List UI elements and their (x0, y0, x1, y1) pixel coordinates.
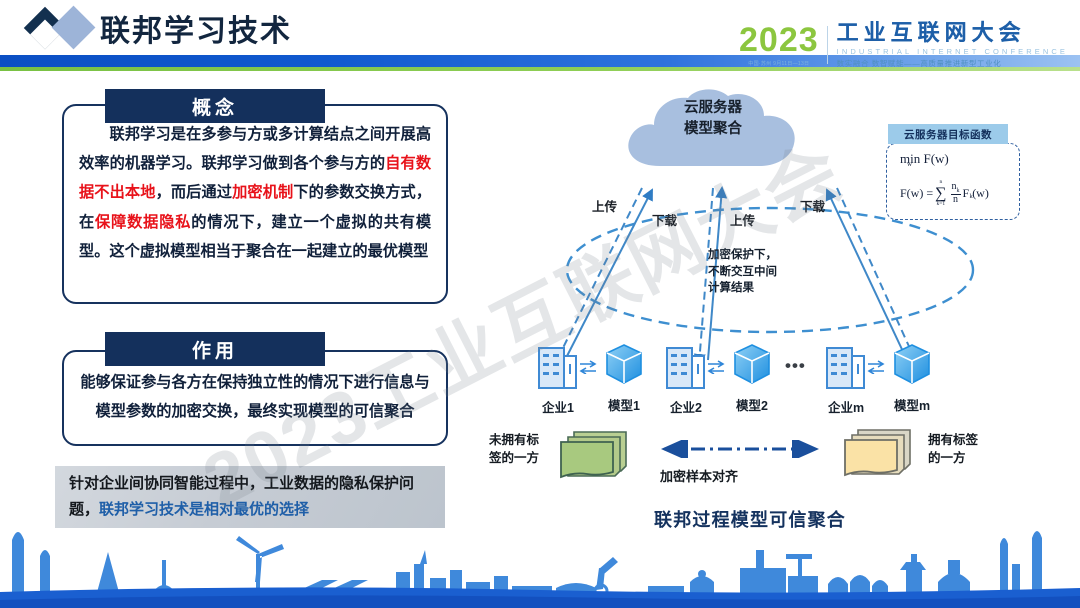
node-model-m: 模型m (886, 342, 938, 414)
summary-callout-text: 针对企业间协同智能过程中，工业数据的隐私保护问题，联邦学习技术是相对最优的选择 (55, 471, 445, 523)
slide-root: 联邦学习技术 2023 中国·苏州 9月11日—13日 工业互联网大会 INDU… (0, 0, 1080, 608)
node-enterprise-2: 企业2 (660, 340, 712, 416)
cloud-label: 云服务器 模型聚合 (618, 98, 808, 140)
formula-line1-sub: w (907, 160, 912, 168)
node-enterprise-1: 企业1 (532, 340, 584, 416)
conference-name-en: INDUSTRIAL INTERNET CONFERENCE (837, 47, 1068, 56)
exchange-arrows-icon-3 (866, 360, 886, 374)
upload-label-left: 上传 (592, 196, 617, 215)
concept-highlight: 保障数据隐私 (95, 214, 191, 231)
alignment-arrow-icon (650, 440, 830, 458)
formula-line2-lhs: F(w) = (900, 186, 933, 201)
cloud-label-line2: 模型聚合 (618, 119, 808, 140)
conference-logo: 2023 中国·苏州 9月11日—13日 工业互联网大会 INDUSTRIAL … (739, 22, 1068, 68)
conference-year: 2023 (739, 23, 819, 57)
building-icon (537, 340, 579, 390)
formula-tail-sub: k (970, 193, 973, 200)
node-model-1: 模型1 (598, 342, 650, 414)
node-label: 模型2 (726, 395, 778, 414)
concept-body: 联邦学习是在多参与方或多计算结点之间开展高效率的机器学习。联邦学习做到各个参与方… (64, 106, 446, 276)
unlabeled-party-label: 未拥有标 签的一方 (489, 432, 539, 467)
node-label: 企业2 (660, 397, 712, 416)
cube-icon (603, 342, 645, 388)
formula-box-title: 云服务器目标函数 (888, 124, 1008, 144)
node-model-2: 模型2 (726, 342, 778, 414)
concept-caption: 概念 (105, 89, 325, 123)
alignment-label: 加密样本对齐 (660, 466, 738, 485)
formula-tail: F (w) (963, 186, 989, 200)
encryption-note-line2: 不断交互中间 (708, 264, 777, 281)
encryption-note: 加密保护下， 不断交互中间 计算结果 (708, 247, 777, 297)
exchange-arrows-icon-2 (706, 360, 726, 374)
page-title: 联邦学习技术 (100, 6, 292, 50)
conference-tagline: 数实融合 数智赋能——高质量推进新型工业化 (837, 58, 1068, 69)
upload-label-right: 上传 (730, 210, 755, 229)
building-icon (825, 340, 867, 390)
callout-emphasis: 联邦学习技术是相对最优的选择 (99, 501, 309, 518)
green-document-stack-icon (556, 428, 638, 484)
download-label-left: 下载 (652, 210, 677, 229)
formula-sum-bottom: k=1 (937, 202, 946, 208)
concept-run: ，而后通过 (156, 184, 233, 201)
download-label-right: 下载 (800, 196, 825, 215)
encryption-note-line3: 计算结果 (708, 280, 777, 297)
city-skyline-band (0, 520, 1080, 608)
cube-icon (731, 342, 773, 388)
node-label: 企业1 (532, 397, 584, 416)
building-icon (665, 340, 707, 390)
concept-highlight: 加密机制 (232, 184, 293, 201)
formula-frac-num-sub: k (957, 188, 960, 194)
summary-callout: 针对企业间协同智能过程中，工业数据的隐私保护问题，联邦学习技术是相对最优的选择 (55, 466, 445, 528)
conference-year-sub: 中国·苏州 9月11日—13日 (748, 60, 809, 67)
node-ellipsis: ••• (785, 356, 806, 376)
formula-frac-den: n (953, 195, 958, 206)
cloud-label-line1: 云服务器 (618, 98, 808, 119)
encryption-note-line1: 加密保护下， (708, 247, 777, 264)
formula-box: min F(w) w F(w) = n ∑ k=1 nk n F (w) (886, 143, 1020, 220)
concept-panel: 联邦学习是在多参与方或多计算结点之间开展高效率的机器学习。联邦学习做到各个参与方… (62, 104, 448, 304)
diagram-caption: 联邦过程模型可信聚合 (600, 506, 900, 532)
chevron-diamond-logo-icon (30, 10, 108, 46)
node-label: 模型1 (598, 395, 650, 414)
cube-icon (891, 342, 933, 388)
concept-run: 联邦学习是在多参与方或多计算结点之间开展高效率的机器学习。联邦学习做到各个参与方… (79, 126, 431, 172)
node-label: 模型m (886, 395, 938, 414)
conference-name-cn: 工业互联网大会 (837, 21, 1068, 44)
exchange-arrows-icon-1 (578, 360, 598, 374)
yellow-document-stack-icon (840, 426, 922, 484)
node-enterprise-m: 企业m (820, 340, 872, 416)
node-label: 企业m (820, 397, 872, 416)
role-caption: 作用 (105, 332, 325, 366)
labeled-party-label: 拥有标签 的一方 (928, 432, 978, 467)
